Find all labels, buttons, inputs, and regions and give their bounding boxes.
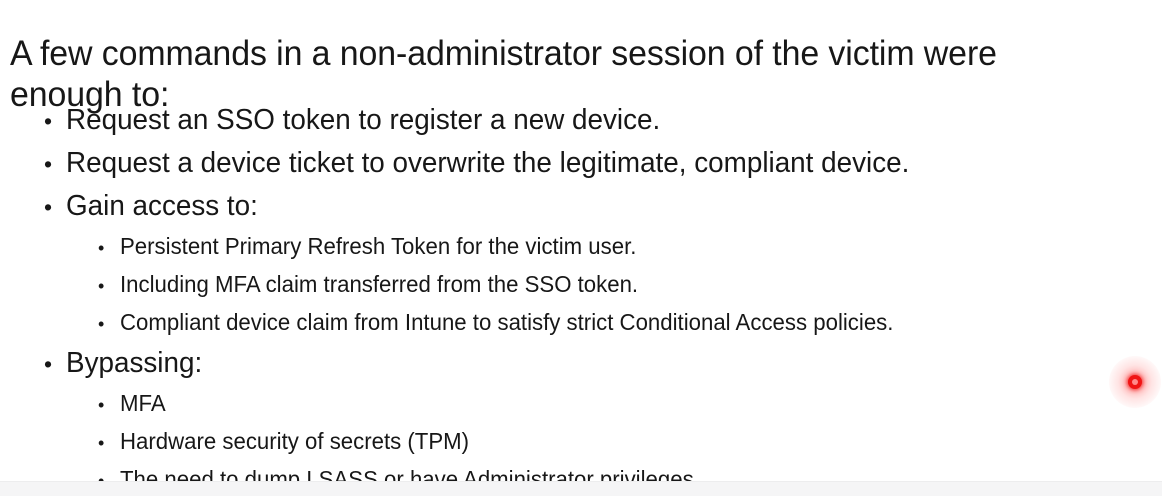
bullet-text: Bypassing: bbox=[66, 342, 1118, 384]
bullet-marker-icon: • bbox=[44, 343, 66, 385]
slide-bottom-edge bbox=[0, 481, 1162, 496]
bullet-item-level-2: •Compliant device claim from Intune to s… bbox=[0, 304, 1162, 342]
bullet-marker-icon: • bbox=[98, 230, 120, 266]
bullet-item-level-2: •MFA bbox=[0, 385, 1162, 423]
bullet-list: •Request an SSO token to register a new … bbox=[0, 99, 1162, 496]
bullet-item-level-2: •Including MFA claim transferred from th… bbox=[0, 266, 1162, 304]
bullet-marker-icon: • bbox=[98, 387, 120, 423]
bullet-item-level-1: •Bypassing: bbox=[0, 342, 1162, 385]
bullet-item-level-1: •Gain access to: bbox=[0, 185, 1162, 228]
bullet-marker-icon: • bbox=[98, 268, 120, 304]
bullet-text: Persistent Primary Refresh Token for the… bbox=[120, 228, 1126, 264]
bullet-item-level-1: •Request a device ticket to overwrite th… bbox=[0, 142, 1162, 185]
bullet-text: Compliant device claim from Intune to sa… bbox=[120, 304, 1126, 340]
bullet-text: Including MFA claim transferred from the… bbox=[120, 266, 1126, 302]
bullet-text: Request a device ticket to overwrite the… bbox=[66, 142, 1118, 184]
bullet-item-level-1: •Request an SSO token to register a new … bbox=[0, 99, 1162, 142]
bullet-text: Gain access to: bbox=[66, 185, 1118, 227]
bullet-marker-icon: • bbox=[98, 425, 120, 461]
bullet-text: MFA bbox=[120, 385, 1126, 421]
bullet-marker-icon: • bbox=[98, 306, 120, 342]
presentation-slide: A few commands in a non-administrator se… bbox=[0, 0, 1162, 496]
bullet-item-level-2: •Persistent Primary Refresh Token for th… bbox=[0, 228, 1162, 266]
bullet-text: Hardware security of secrets (TPM) bbox=[120, 423, 1126, 459]
bullet-marker-icon: • bbox=[44, 186, 66, 228]
bullet-marker-icon: • bbox=[44, 100, 66, 142]
bullet-text: Request an SSO token to register a new d… bbox=[66, 99, 1118, 141]
bullet-item-level-2: •Hardware security of secrets (TPM) bbox=[0, 423, 1162, 461]
bullet-marker-icon: • bbox=[44, 143, 66, 185]
